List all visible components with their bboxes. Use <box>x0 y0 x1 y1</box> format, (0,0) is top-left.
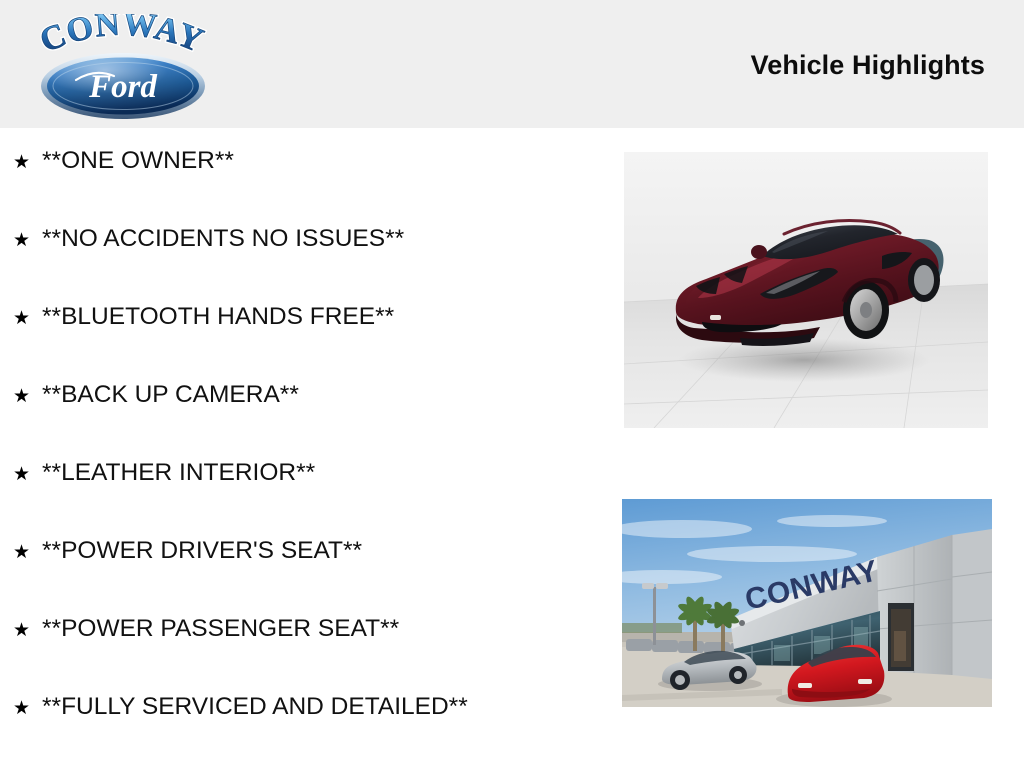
star-bullet-icon: ★ <box>13 699 42 718</box>
ford-oval-emblem: Ford <box>40 52 206 120</box>
list-item: ★ **LEATHER INTERIOR** <box>0 461 615 539</box>
highlight-text: **FULLY SERVICED AND DETAILED** <box>42 695 615 720</box>
list-item: ★ **BLUETOOTH HANDS FREE** <box>0 305 615 383</box>
list-item: ★ **BACK UP CAMERA** <box>0 383 615 461</box>
star-bullet-icon: ★ <box>13 387 42 406</box>
star-bullet-icon: ★ <box>13 309 42 328</box>
svg-text:Ford: Ford <box>88 69 157 105</box>
star-bullet-icon: ★ <box>13 543 42 562</box>
highlight-text: **NO ACCIDENTS NO ISSUES** <box>42 227 615 252</box>
header-bar: CONWAY CONWAY <box>0 0 1024 128</box>
list-item: ★ **NO ACCIDENTS NO ISSUES** <box>0 227 615 305</box>
list-item: ★ **POWER DRIVER'S SEAT** <box>0 539 615 617</box>
star-bullet-icon: ★ <box>13 465 42 484</box>
list-item: ★ **FULLY SERVICED AND DETAILED** <box>0 695 615 773</box>
list-item: ★ **ONE OWNER** <box>0 149 615 227</box>
star-bullet-icon: ★ <box>13 153 42 172</box>
highlight-text: **BACK UP CAMERA** <box>42 383 615 408</box>
highlight-text: **POWER PASSENGER SEAT** <box>42 617 615 642</box>
highlight-text: **POWER DRIVER'S SEAT** <box>42 539 615 564</box>
page-title: Vehicle Highlights <box>751 50 985 81</box>
vehicle-exterior-photo[interactable] <box>624 152 988 428</box>
star-bullet-icon: ★ <box>13 231 42 250</box>
list-item: ★ **POWER PASSENGER SEAT** <box>0 617 615 695</box>
highlight-text: **ONE OWNER** <box>42 149 615 174</box>
dealership-exterior-photo[interactable]: CONWAY <box>622 499 992 707</box>
dealer-logo[interactable]: CONWAY CONWAY <box>22 8 222 120</box>
star-bullet-icon: ★ <box>13 621 42 640</box>
highlight-text: **BLUETOOTH HANDS FREE** <box>42 305 615 330</box>
highlight-text: **LEATHER INTERIOR** <box>42 461 615 486</box>
vehicle-highlights-list: ★ **ONE OWNER** ★ **NO ACCIDENTS NO ISSU… <box>0 149 615 773</box>
